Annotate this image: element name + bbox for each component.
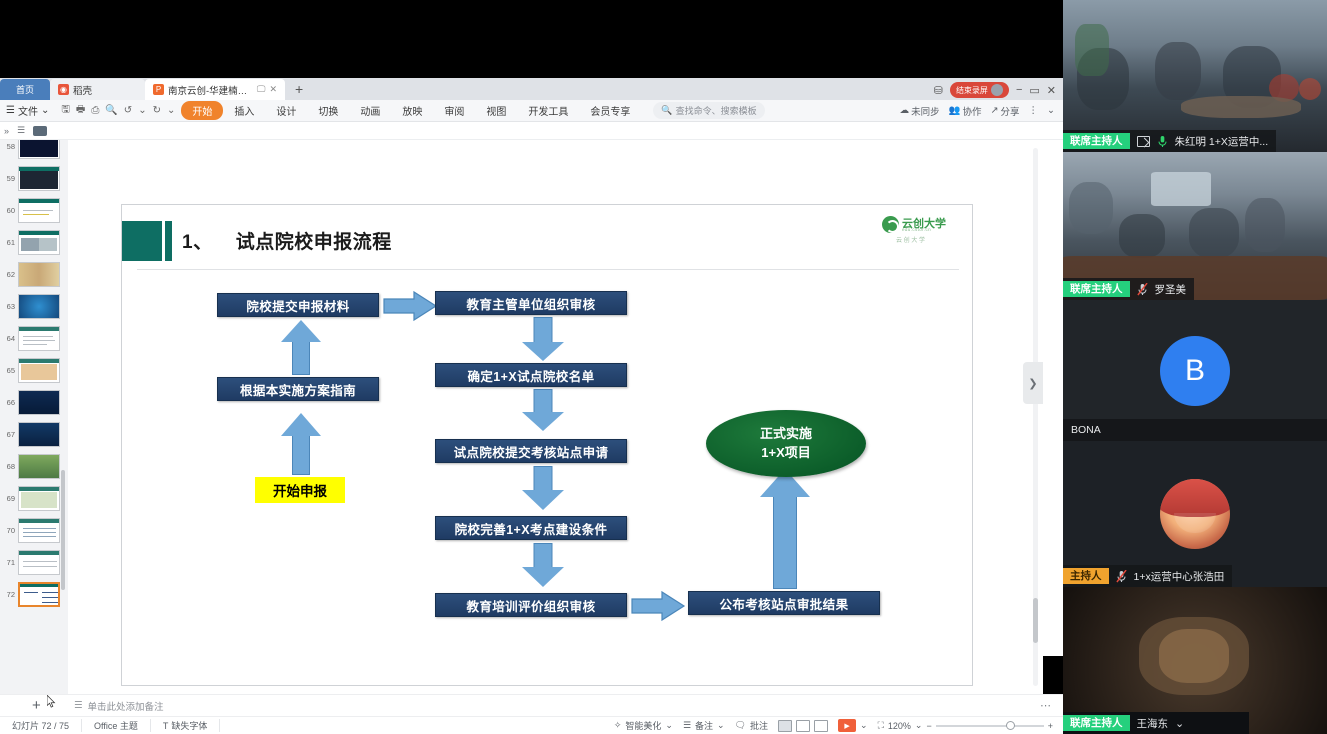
arrow-down-4 — [521, 543, 565, 590]
thumbnail-number: 61 — [2, 238, 15, 247]
font-warning-label: 缺失字体 — [171, 719, 207, 732]
zoom-slider[interactable] — [936, 725, 1044, 727]
tab-presentation[interactable]: P 南京云创-华建楠—...A partner 🖵 ✕ — [145, 79, 285, 100]
thumbnail-preview[interactable] — [18, 326, 60, 351]
theme-name[interactable]: Office 主题 — [82, 719, 151, 732]
thumbnail-item[interactable]: 59 — [0, 162, 68, 194]
search-input[interactable]: 🔍 查找命令、搜索模板 — [653, 102, 764, 119]
chevron-down-icon: ⌄ — [41, 105, 49, 116]
maximize-button[interactable]: ▭ — [1029, 84, 1039, 97]
start-highlight-label: 开始申报 — [273, 480, 327, 500]
avatar: B — [1160, 336, 1230, 406]
participant-role-badge: 联席主持人 — [1063, 715, 1130, 732]
logo-mark-icon — [882, 216, 899, 233]
flow-box-7-label: 教育培训评价组织审核 — [466, 596, 595, 615]
cloud-sync-icon: ☁ — [900, 105, 910, 116]
thumbnail-number: 59 — [2, 174, 15, 183]
view-switcher — [778, 720, 828, 732]
avatar — [1160, 479, 1230, 549]
flow-box-7[interactable]: 教育培训评价组织审核 — [435, 593, 627, 617]
thumbnail-preview[interactable] — [18, 582, 60, 607]
thumbnail-preview[interactable] — [18, 230, 60, 255]
docer-icon: ◉ — [58, 84, 69, 95]
beautify-label: 智能美化 — [625, 719, 661, 732]
tab-docer[interactable]: ◉ 稻壳 — [50, 79, 145, 100]
thumbnail-item[interactable]: 66 — [0, 386, 68, 418]
redo-dropdown-icon[interactable]: ⌄ — [167, 105, 175, 116]
theme-swatch-icon[interactable] — [33, 126, 47, 136]
thumbnail-preview[interactable] — [18, 550, 60, 575]
stop-recording-label: 结束录屏 — [956, 85, 988, 96]
magic-wand-icon: ✧ — [614, 720, 622, 731]
mic-off-icon — [1137, 283, 1148, 296]
meeting-participants-panel: 联席主持人 朱红明 1+X运营中... 联席主持人 — [1063, 0, 1327, 734]
thumbnail-number: 65 — [2, 366, 15, 375]
chevron-down-icon[interactable]: ⌄ — [1175, 717, 1184, 730]
flow-box-1-label: 院校提交申报材料 — [246, 296, 349, 315]
zoom-out-button[interactable]: − — [926, 721, 931, 731]
mic-on-icon — [1157, 135, 1168, 148]
thumbnail-item[interactable]: 68 — [0, 450, 68, 482]
notes-pane-icon: ☰ — [683, 720, 691, 731]
tab-home-label: 首页 — [16, 83, 34, 96]
ribbon-tab-slideshow[interactable]: 放映 — [391, 102, 433, 119]
flow-box-4-label: 确定1+X试点院校名单 — [468, 366, 595, 385]
participant-tile-4[interactable]: 主持人 1+x运营中心张浩田 — [1063, 441, 1327, 587]
thumbnail-preview[interactable] — [18, 198, 60, 223]
thumbnail-item[interactable]: 62 — [0, 258, 68, 290]
thumbnail-number: 70 — [2, 526, 15, 535]
print-icon[interactable]: ⎙ — [91, 105, 99, 116]
participant-name-bar-3: BONA — [1063, 419, 1327, 441]
outline-view-icon[interactable]: ☰ — [17, 125, 25, 136]
collaborate-icon: 👥 — [949, 105, 961, 116]
participant-name-bar-4: 主持人 1+x运营中心张浩田 — [1063, 565, 1232, 587]
sync-status-label: 未同步 — [911, 104, 940, 118]
normal-view-icon[interactable] — [778, 720, 792, 732]
logo-script: 云 创 大 学 — [896, 235, 925, 244]
ribbon-tab-start[interactable]: 开始 — [181, 101, 223, 120]
undo-icon[interactable]: ↺ — [124, 105, 132, 116]
zoom-level[interactable]: 120% — [888, 721, 911, 731]
logo-url: edu.cstor.cn — [902, 227, 931, 232]
flow-box-5-label: 试点院校提交考核站点申请 — [454, 442, 609, 461]
participant-role-badge: 联席主持人 — [1063, 133, 1130, 150]
thumbnail-preview[interactable] — [18, 294, 60, 319]
hamburger-icon: ☰ — [6, 105, 15, 116]
thumbnail-number: 69 — [2, 494, 15, 503]
participant-tile-1[interactable]: 联席主持人 朱红明 1+X运营中... — [1063, 0, 1327, 152]
thumbnail-number: 58 — [2, 142, 15, 151]
arrow-down-1 — [521, 317, 565, 361]
thumbnail-number: 60 — [2, 206, 15, 215]
ellipsis-icon[interactable]: ⋯ — [1040, 699, 1051, 712]
participant-name: BONA — [1071, 424, 1101, 436]
ribbon-tab-insert[interactable]: 插入 — [223, 102, 265, 119]
thumbnail-item[interactable]: 71 — [0, 546, 68, 578]
ribbon-tab-design[interactable]: 设计 — [265, 102, 307, 119]
notes-placeholder-area[interactable]: ☰ 单击此处添加备注 — [74, 699, 164, 713]
oval-line-1: 正式实施 — [760, 425, 812, 444]
flow-box-3-label: 根据本实施方案指南 — [240, 380, 356, 399]
thumbnail-item[interactable]: 63 — [0, 290, 68, 322]
ppt-icon: P — [153, 84, 164, 95]
arrow-down-2 — [521, 389, 565, 433]
thumbnail-number: 62 — [2, 270, 15, 279]
thumbnail-number: 63 — [2, 302, 15, 311]
comments-button[interactable]: 🗨 批注 — [735, 719, 768, 732]
ribbon-tab-transition[interactable]: 切换 — [307, 102, 349, 119]
flow-box-3[interactable]: 根据本实施方案指南 — [217, 377, 379, 401]
notes-placeholder: 单击此处添加备注 — [88, 699, 164, 713]
quick-access-toolbar: 🖫 🖶 ⎙ 🔍 ↺ ⌄ ↻ ⌄ — [55, 102, 181, 119]
search-icon: 🔍 — [661, 105, 672, 116]
ribbon-tab-animation[interactable]: 动画 — [349, 102, 391, 119]
participant-tile-3[interactable]: B BONA — [1063, 300, 1327, 441]
arrow-up-2 — [279, 413, 323, 475]
flow-box-8-label: 公布考核站点审批结果 — [719, 594, 848, 613]
fit-to-window-icon[interactable]: ⛶ — [878, 720, 884, 731]
chevron-down-icon[interactable]: ⌄ — [915, 720, 923, 731]
thumbnail-preview[interactable] — [18, 518, 60, 543]
font-icon: T — [163, 721, 169, 731]
close-button[interactable]: ✕ — [1047, 84, 1056, 97]
collapse-ribbon-icon[interactable]: ⌄ — [1047, 105, 1055, 116]
zoom-group: ⛶ 120% ⌄ − + — [878, 720, 1053, 731]
file-menu-label: 文件 — [18, 103, 38, 118]
title-divider — [137, 269, 959, 270]
thumbnail-number: 67 — [2, 430, 15, 439]
participant-name: 朱红明 1+X运营中... — [1175, 134, 1269, 149]
thumbnail-number: 68 — [2, 462, 15, 471]
print-preview-icon[interactable]: 🖶 — [76, 102, 85, 119]
wps-presentation-window: 首页 ◉ 稻壳 P 南京云创-华建楠—...A partner 🖵 ✕ + ⛁ … — [0, 78, 1063, 656]
ribbon-tab-review[interactable]: 审阅 — [433, 102, 475, 119]
thumbnail-item[interactable]: 69 — [0, 482, 68, 514]
thumbnail-item[interactable]: 61 — [0, 226, 68, 258]
reading-view-icon[interactable] — [814, 720, 828, 732]
collaborate-label: 协作 — [963, 104, 982, 118]
participant-tile-2[interactable]: 联席主持人 罗圣美 — [1063, 152, 1327, 300]
share-label: 分享 — [1001, 104, 1020, 118]
oval-line-2: 1+X项目 — [761, 444, 811, 463]
find-icon[interactable]: 🔍 — [105, 105, 117, 116]
next-slide-button[interactable]: ❯ — [1023, 362, 1043, 404]
cloud-icon[interactable]: ⛁ — [934, 84, 943, 97]
slide-counter[interactable]: 幻灯片 72 / 75 — [0, 719, 82, 732]
thumbnail-item[interactable]: 58 — [0, 140, 68, 162]
arrow-up-big — [759, 469, 811, 589]
mouse-cursor — [47, 695, 56, 708]
redo-icon[interactable]: ↻ — [153, 105, 161, 116]
ribbon-tab-developer[interactable]: 开发工具 — [517, 102, 579, 119]
thumbnail-item[interactable]: 70 — [0, 514, 68, 546]
tab-docer-label: 稻壳 — [73, 83, 92, 97]
arrow-down-3 — [521, 466, 565, 513]
thumbnail-preview[interactable] — [18, 486, 60, 511]
flow-box-2-label: 教育主管单位组织审核 — [466, 294, 595, 313]
secondary-toolbar: » ☰ — [0, 122, 1063, 140]
file-menu-button[interactable]: ☰ 文件 ⌄ — [0, 103, 55, 118]
share-button[interactable]: ↗ 分享 — [991, 104, 1020, 118]
save-icon[interactable]: 🖫 — [61, 102, 70, 119]
zoom-slider-knob[interactable] — [1006, 721, 1015, 730]
start-highlight-box[interactable]: 开始申报 — [255, 477, 345, 503]
ribbon-tab-member[interactable]: 会员专享 — [579, 102, 641, 119]
ribbon-bar: ☰ 文件 ⌄ 🖫 🖶 ⎙ 🔍 ↺ ⌄ ↻ ⌄ 开始 插入 设计 切换 动画 放映 — [0, 100, 1063, 122]
slide-title-text: 试点院校申报流程 — [236, 232, 392, 253]
ribbon-tab-view[interactable]: 视图 — [475, 102, 517, 119]
new-tab-button[interactable]: + — [285, 79, 313, 100]
ribbon-tabs: 开始 插入 设计 切换 动画 放映 审阅 视图 开发工具 会员专享 — [181, 101, 641, 120]
window-controls: ⛁ 结束录屏 − ▭ ✕ — [934, 82, 1063, 100]
university-logo: 云创大学 edu.cstor.cn 云 创 大 学 — [882, 213, 960, 247]
slide-sorter-icon[interactable] — [796, 720, 810, 732]
font-warning[interactable]: T 缺失字体 — [151, 719, 221, 732]
thumbnail-item[interactable]: 65 — [0, 354, 68, 386]
chevron-down-icon: ⌄ — [665, 720, 673, 731]
flow-box-8[interactable]: 公布考核站点审批结果 — [688, 591, 880, 615]
slide-title[interactable]: 1、 试点院校申报流程 — [182, 227, 392, 254]
flow-box-4[interactable]: 确定1+X试点院校名单 — [435, 363, 627, 387]
participant-name-bar-1: 联席主持人 朱红明 1+X运营中... — [1063, 130, 1276, 152]
thumbnail-preview[interactable] — [18, 390, 60, 415]
flow-box-6[interactable]: 院校完善1+X考点建设条件 — [435, 516, 627, 540]
title-accent-bar — [165, 221, 172, 261]
comment-icon: 🗨 — [735, 720, 746, 731]
thumbnail-preview[interactable] — [18, 262, 60, 287]
add-slide-button[interactable]: + — [32, 697, 41, 714]
screen-share-icon — [1137, 136, 1150, 147]
flow-box-2[interactable]: 教育主管单位组织审核 — [435, 291, 627, 315]
status-right: ✧ 智能美化 ⌄ ☰ 备注 ⌄ 🗨 批注 — [614, 719, 1063, 732]
title-accent-block — [122, 221, 162, 261]
thumbnail-item[interactable]: 60 — [0, 194, 68, 226]
participant-name-bar-5: 联席主持人 王海东 ⌄ — [1063, 712, 1249, 734]
thumbnail-number: 66 — [2, 398, 15, 407]
tab-home[interactable]: 首页 — [0, 79, 50, 100]
flow-box-5[interactable]: 试点院校提交考核站点申请 — [435, 439, 627, 463]
collaborate-button[interactable]: 👥 协作 — [949, 104, 982, 118]
notes-button[interactable]: ☰ 备注 ⌄ — [683, 719, 725, 732]
minimize-button[interactable]: − — [1016, 84, 1022, 96]
slide-title-number: 1、 — [182, 232, 213, 253]
participant-role-badge: 主持人 — [1063, 568, 1109, 585]
thumbnail-preview[interactable] — [18, 358, 60, 383]
arrow-right-2 — [630, 590, 686, 622]
thumbnail-preview[interactable] — [18, 140, 60, 159]
user-avatar-icon[interactable] — [991, 84, 1003, 96]
undo-dropdown-icon[interactable]: ⌄ — [138, 105, 146, 116]
thumbnail-item[interactable]: 64 — [0, 322, 68, 354]
document-tab-bar: 首页 ◉ 稻壳 P 南京云创-华建楠—...A partner 🖵 ✕ + ⛁ … — [0, 78, 1063, 100]
avatar-letter: B — [1185, 354, 1205, 388]
participant-tile-5[interactable]: 联席主持人 王海东 ⌄ — [1063, 587, 1327, 734]
play-group[interactable]: ▶ ⌄ — [838, 719, 868, 732]
search-placeholder: 查找命令、搜索模板 — [676, 104, 757, 117]
participant-name: 王海东 — [1137, 716, 1169, 731]
thumbnail-scrollbar[interactable] — [61, 470, 65, 590]
expand-panel-icon[interactable]: » — [4, 126, 9, 136]
status-left: 幻灯片 72 / 75 Office 主题 T 缺失字体 — [0, 719, 220, 732]
ribbon-right-actions: ☁ 未同步 👥 协作 ↗ 分享 ⋮ ⌄ — [900, 104, 1063, 118]
thumbnail-item-selected[interactable]: 72 — [0, 578, 68, 610]
participant-role-badge: 联席主持人 — [1063, 281, 1130, 298]
sync-status-button[interactable]: ☁ 未同步 — [900, 104, 940, 118]
play-icon[interactable]: ▶ — [838, 719, 856, 732]
thumbnail-number: 72 — [2, 590, 15, 599]
canvas-vertical-scrollbar[interactable] — [1033, 148, 1038, 686]
beautify-button[interactable]: ✧ 智能美化 ⌄ — [614, 719, 673, 732]
status-bar: 幻灯片 72 / 75 Office 主题 T 缺失字体 ✧ 智能美化 ⌄ ☰ … — [0, 716, 1063, 734]
screen: 首页 ◉ 稻壳 P 南京云创-华建楠—...A partner 🖵 ✕ + ⛁ … — [0, 0, 1327, 734]
chevron-down-icon: ⌄ — [717, 720, 725, 731]
thumbnail-number: 64 — [2, 334, 15, 343]
notes-icon: ☰ — [74, 700, 83, 711]
chevron-down-icon[interactable]: ⌄ — [860, 720, 868, 731]
tab-presentation-label: 南京云创-华建楠—...A partner — [168, 83, 253, 97]
zoom-in-button[interactable]: + — [1048, 721, 1053, 731]
share-icon: ↗ — [991, 105, 999, 116]
comments-button-label: 批注 — [750, 719, 768, 732]
more-vertical-icon[interactable]: ⋮ — [1029, 105, 1039, 116]
final-stage-oval[interactable]: 正式实施 1+X项目 — [706, 410, 866, 477]
participant-name: 罗圣美 — [1155, 282, 1187, 297]
thumbnail-preview[interactable] — [18, 166, 60, 191]
arrow-up-1 — [279, 320, 323, 375]
participant-name-bar-2: 联席主持人 罗圣美 — [1063, 278, 1194, 300]
arrow-right-1 — [382, 290, 438, 322]
participant-name: 1+x运营中心张浩田 — [1134, 569, 1225, 584]
flow-box-1[interactable]: 院校提交申报材料 — [217, 293, 379, 317]
flow-box-6-label: 院校完善1+X考点建设条件 — [455, 519, 608, 538]
mic-off-icon — [1116, 570, 1127, 583]
notes-button-label: 备注 — [695, 719, 713, 732]
tab-cast-icon[interactable]: 🖵 — [257, 84, 266, 95]
slide-thumbnail-panel[interactable]: 58 59 60 61 62 63 — [0, 140, 68, 694]
stop-recording-button[interactable]: 结束录屏 — [950, 82, 1009, 98]
thumbnail-preview[interactable] — [18, 422, 60, 447]
slide-canvas-area[interactable]: 1、 试点院校申报流程 云创大学 edu.cstor.cn 云 创 大 学 院校… — [68, 140, 1043, 694]
slide-surface[interactable]: 1、 试点院校申报流程 云创大学 edu.cstor.cn 云 创 大 学 院校… — [121, 204, 973, 686]
notes-bar[interactable]: + ☰ 单击此处添加备注 ⋯ — [0, 694, 1063, 716]
thumbnail-preview[interactable] — [18, 454, 60, 479]
tab-close-icon[interactable]: ✕ — [269, 84, 277, 95]
thumbnail-item[interactable]: 67 — [0, 418, 68, 450]
thumbnail-number: 71 — [2, 558, 15, 567]
